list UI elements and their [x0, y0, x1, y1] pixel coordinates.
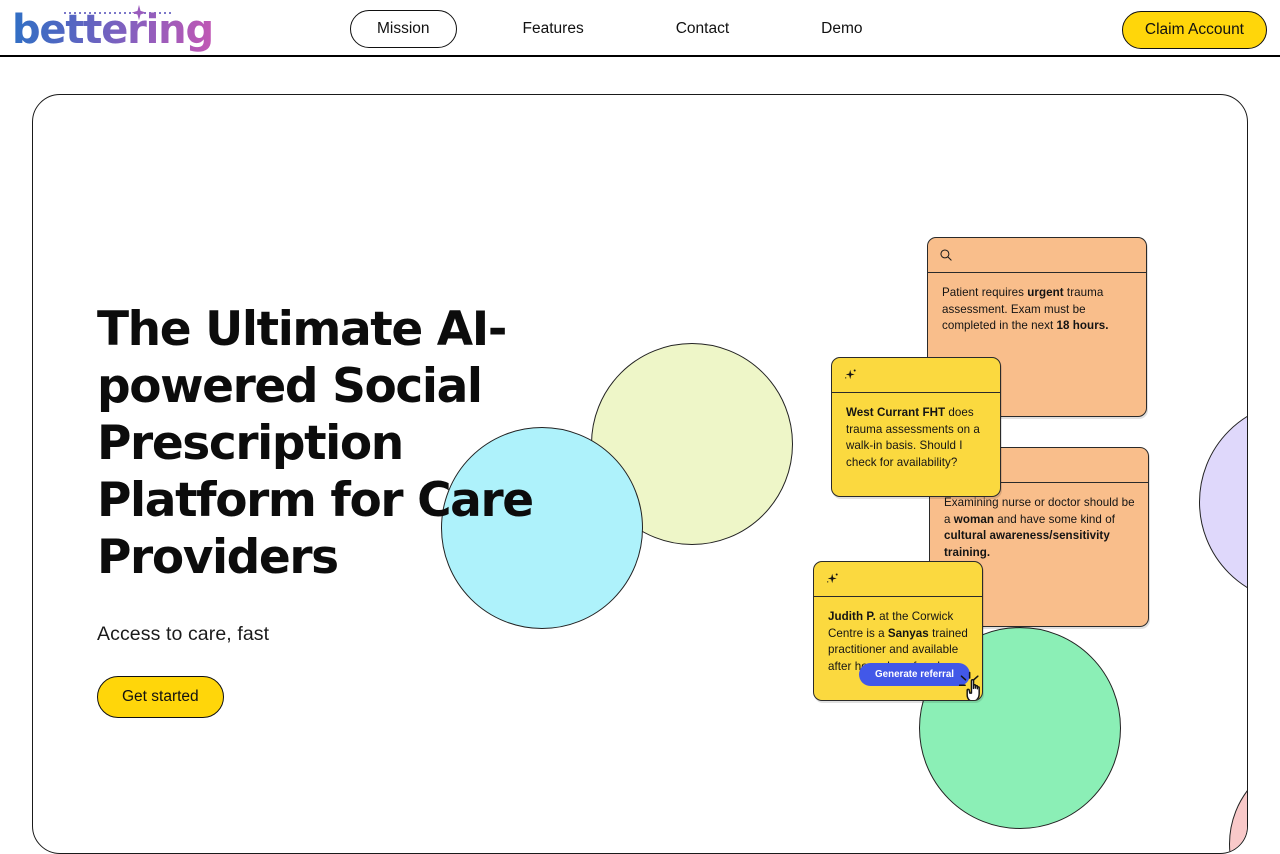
note-card-header — [814, 562, 982, 597]
site-header: bettering Mission Features Contact Demo … — [0, 0, 1280, 57]
claim-account-button[interactable]: Claim Account — [1122, 11, 1267, 49]
note-card-header — [832, 358, 1000, 393]
note-card-west-currant[interactable]: West Currant FHT does trauma assessments… — [831, 357, 1001, 497]
hero-panel: The Ultimate AI-powered Social Prescript… — [32, 94, 1248, 854]
nav-item-contact[interactable]: Contact — [660, 11, 745, 47]
primary-navigation: Mission Features Contact Demo — [350, 0, 879, 57]
sparkle-icon[interactable] — [825, 571, 841, 587]
note-card-text: Patient requires urgent trauma assessmen… — [928, 273, 1146, 349]
get-started-button[interactable]: Get started — [97, 676, 224, 718]
lavender-circle — [1199, 401, 1248, 603]
nav-item-features[interactable]: Features — [507, 11, 600, 47]
generate-referral-button[interactable]: Generate referral — [859, 663, 970, 686]
brand-name: bettering — [12, 8, 213, 52]
nav-item-mission[interactable]: Mission — [350, 10, 457, 48]
page-title: The Ultimate AI-powered Social Prescript… — [97, 301, 617, 586]
brand-logo[interactable]: bettering — [12, 2, 192, 54]
sparkle-icon[interactable] — [843, 367, 859, 383]
note-card-judith-p[interactable]: Judith P. at the Corwick Centre is a San… — [813, 561, 983, 701]
note-card-text: West Currant FHT does trauma assessments… — [832, 393, 1000, 485]
search-icon[interactable] — [939, 248, 953, 262]
hero-subtitle: Access to care, fast — [97, 623, 657, 646]
pink-circle — [1229, 755, 1248, 854]
nav-item-demo[interactable]: Demo — [805, 11, 878, 47]
note-card-header — [928, 238, 1146, 273]
hero-copy: The Ultimate AI-powered Social Prescript… — [97, 301, 657, 718]
